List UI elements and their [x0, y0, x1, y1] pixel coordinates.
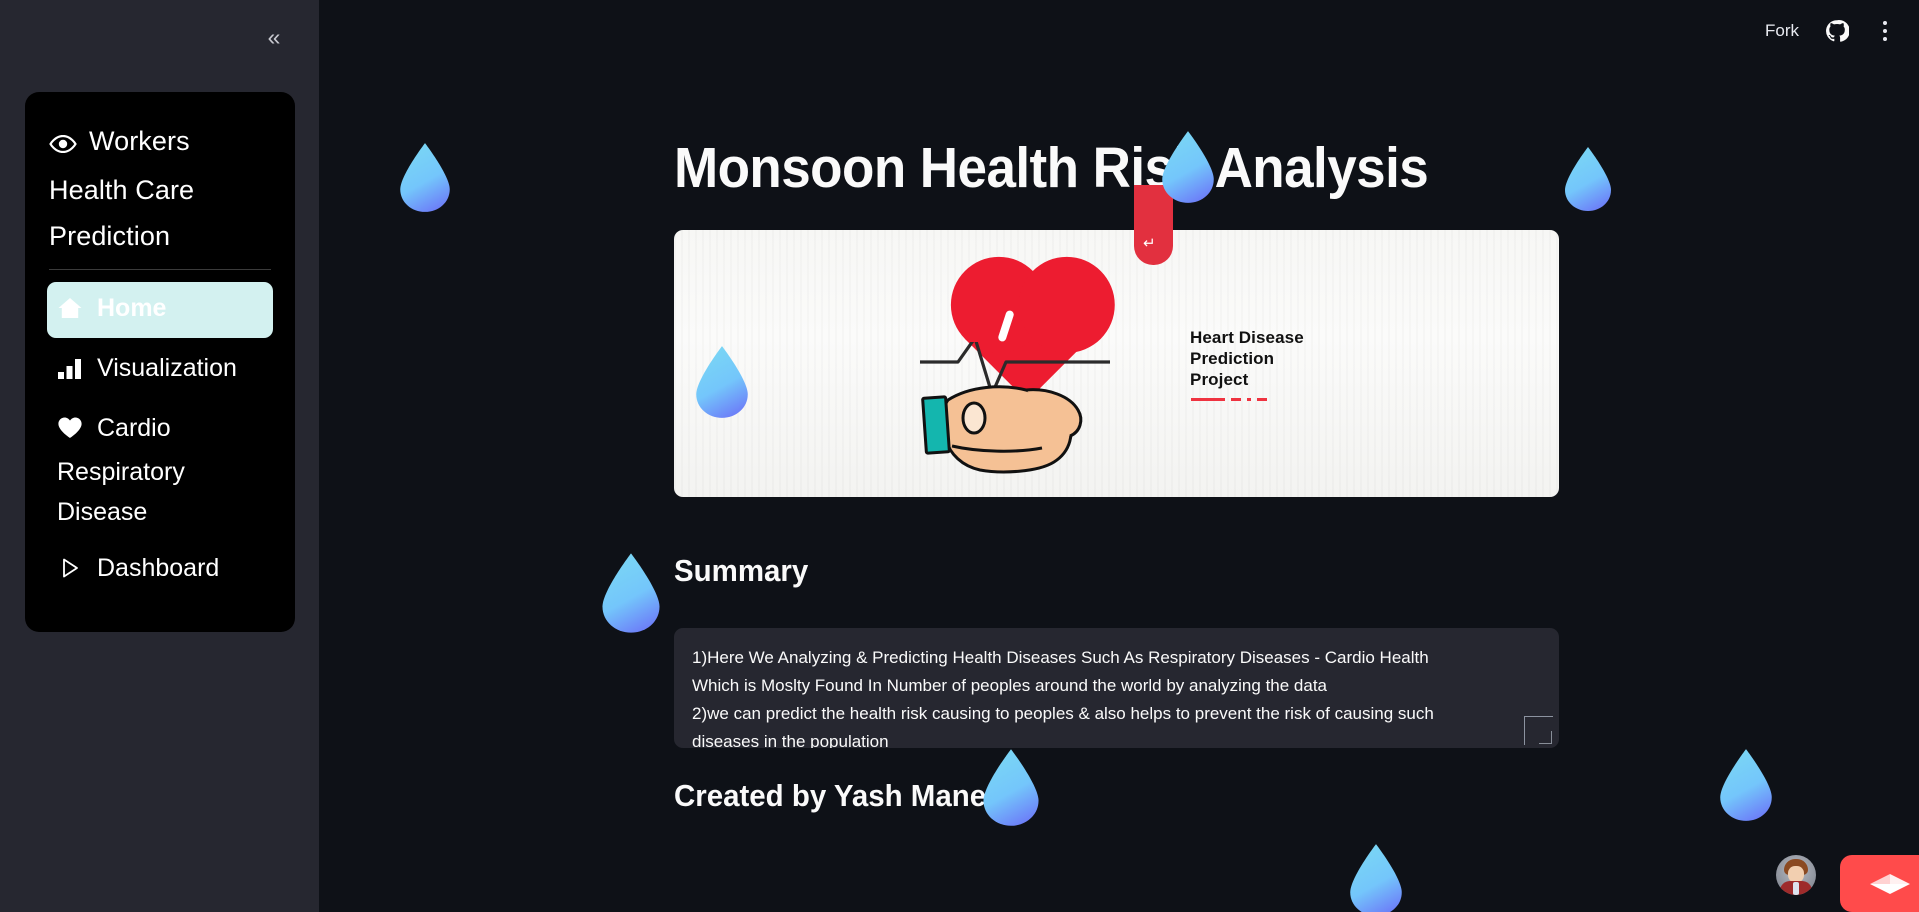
user-avatar[interactable]: [1776, 855, 1816, 895]
play-triangle-icon: [57, 552, 83, 592]
hero-caption: Heart Disease Prediction Project: [1190, 327, 1304, 390]
sidebar-card: Workers Health Care Prediction Home: [25, 92, 295, 632]
manage-app-button[interactable]: [1840, 855, 1919, 912]
summary-heading: Summary: [674, 553, 808, 589]
page-title: Monsoon Health Risk Analysis: [674, 135, 1428, 201]
summary-textarea[interactable]: 1)Here We Analyzing & Predicting Health …: [674, 628, 1559, 748]
hand-icon: [930, 374, 1100, 484]
sidebar-title: Workers Health Care Prediction: [47, 118, 273, 259]
hero-image-inner: Heart Disease Prediction Project: [674, 230, 1559, 497]
heart-icon: [57, 412, 83, 452]
sidebar-item-visualization-label: Visualization: [97, 354, 237, 382]
hero-caption-line-1: Heart Disease: [1190, 327, 1304, 348]
created-by-text: Created by Yash Mane: [674, 778, 986, 814]
sidebar-item-dashboard-label: Dashboard: [97, 554, 219, 582]
sidebar-divider: [49, 269, 271, 270]
hero-caption-underline: [1191, 398, 1267, 401]
eye-icon: [49, 121, 77, 167]
app-root: « Workers Health Care Prediction Home: [0, 0, 1919, 912]
sidebar-item-cardio-respiratory-disease[interactable]: Cardio Respiratory Disease: [47, 402, 273, 538]
sidebar-item-home[interactable]: Home: [47, 282, 273, 338]
hero-caption-line-2: Prediction: [1190, 348, 1304, 369]
sidebar-item-home-label: Home: [97, 294, 166, 322]
avatar-collar: [1793, 882, 1799, 895]
sidebar-item-dashboard[interactable]: Dashboard: [47, 542, 273, 598]
sidebar-item-visualization[interactable]: Visualization: [47, 342, 273, 398]
sidebar-collapse-button[interactable]: «: [257, 22, 291, 52]
bar-chart-icon: [57, 352, 83, 392]
hero-caption-line-3: Project: [1190, 369, 1304, 390]
summary-resize-handle[interactable]: [1539, 731, 1552, 744]
home-icon: [57, 292, 83, 332]
hero-image-card: ↵: [674, 230, 1559, 497]
heart-in-hand-illustration: Heart Disease Prediction Project: [920, 290, 1340, 490]
main-content: Monsoon Health Risk Analysis ↵: [319, 0, 1919, 912]
chevron-double-left-icon: «: [268, 26, 281, 49]
sleeve-cuff: [921, 395, 951, 455]
sidebar: « Workers Health Care Prediction Home: [0, 0, 319, 912]
streamlit-logo-icon: [1869, 871, 1911, 897]
